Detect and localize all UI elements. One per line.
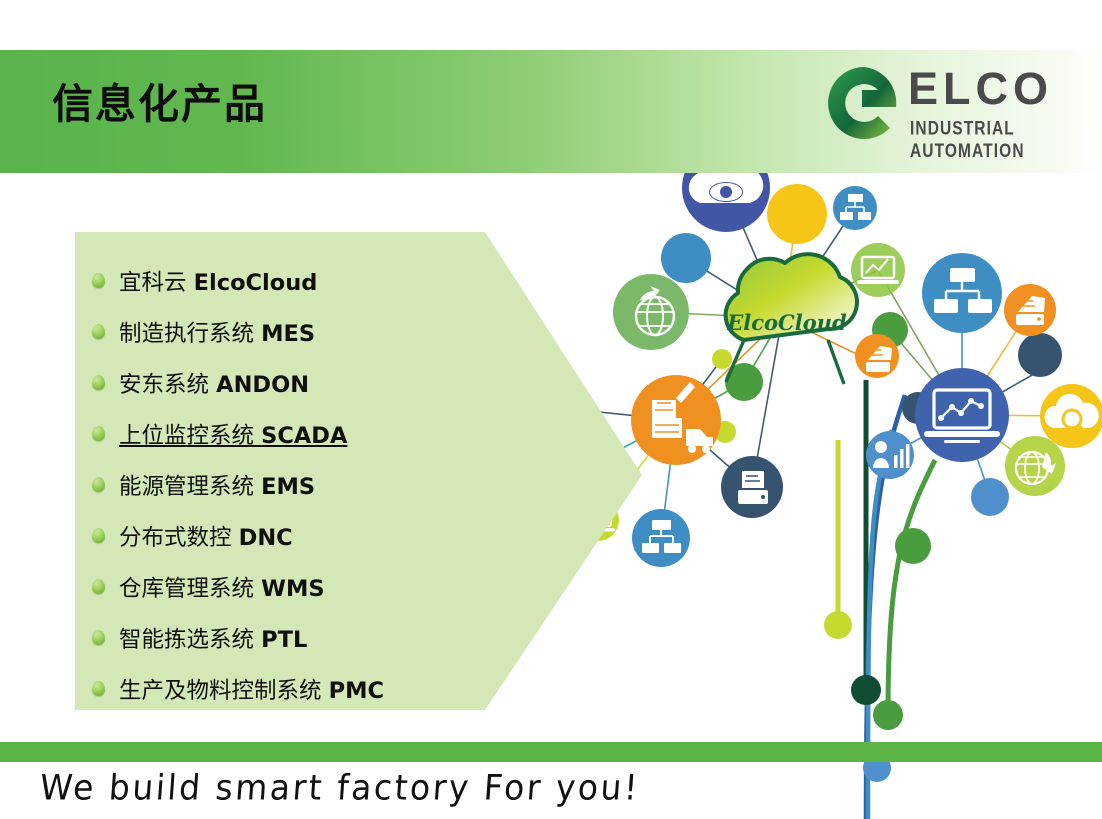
elcocloud-center: ElcoCloud — [726, 254, 857, 384]
product-list-item: 宜科云 ElcoCloud — [92, 255, 562, 306]
node-network-sitemap-bottom — [632, 509, 690, 567]
product-list-item: 生产及物料控制系统 PMC — [92, 663, 562, 714]
product-name-cn: 上位监控系统 — [119, 423, 261, 449]
product-list-item-label: 仓库管理系统 WMS — [119, 571, 325, 603]
product-list-item: 能源管理系统 EMS — [92, 459, 562, 510]
node-globe-refresh-left — [613, 274, 689, 350]
bullet-orb-icon — [92, 681, 105, 696]
product-list: 宜科云 ElcoCloud制造执行系统 MES安东系统 ANDON上位监控系统 … — [92, 255, 562, 714]
product-name-en: SCADA — [261, 423, 347, 449]
product-name-en: PTL — [261, 627, 307, 653]
logo-tagline: INDUSTRIAL AUTOMATION — [910, 118, 1082, 163]
node-scanner-right — [1004, 284, 1056, 336]
product-name-en: ANDON — [216, 372, 309, 398]
product-list-item: 仓库管理系统 WMS — [92, 561, 562, 612]
product-name-cn: 能源管理系统 — [119, 474, 261, 500]
product-name-cn: 安东系统 — [119, 372, 216, 398]
product-list-item: 智能拣选系统 PTL — [92, 612, 562, 663]
product-list-item-label: 智能拣选系统 PTL — [119, 622, 307, 654]
footer-tagline: We build smart factory For you! — [39, 767, 642, 808]
node-network-sitemap-right — [922, 253, 1002, 333]
bullet-orb-icon — [92, 324, 105, 339]
elco-logo: ELCO INDUSTRIAL AUTOMATION — [824, 60, 1082, 150]
bullet-orb-icon — [92, 528, 105, 543]
product-list-item-label: 安东系统 ANDON — [119, 367, 309, 399]
node-scanner-center — [855, 334, 899, 378]
product-name-en: EMS — [261, 474, 315, 500]
product-list-item-label: 制造执行系统 MES — [119, 316, 315, 348]
product-name-cn: 智能拣选系统 — [119, 627, 261, 653]
product-list-item: 制造执行系统 MES — [92, 306, 562, 357]
product-name-cn: 分布式数控 — [119, 525, 239, 551]
product-name-cn: 仓库管理系统 — [119, 576, 261, 602]
bullet-orb-icon — [92, 375, 105, 390]
product-name-en: MES — [261, 321, 315, 347]
product-list-item: 分布式数控 DNC — [92, 510, 562, 561]
node-network-sitemap-top — [833, 186, 877, 230]
elcocloud-label: ElcoCloud — [726, 310, 847, 335]
bullet-orb-icon — [92, 630, 105, 645]
footer-bar — [0, 742, 1102, 762]
node-printer-center — [721, 456, 783, 518]
bullet-orb-icon — [92, 579, 105, 594]
bullet-orb-icon — [92, 273, 105, 288]
product-list-item: 上位监控系统 SCADA — [92, 408, 562, 459]
product-name-en: PMC — [329, 678, 384, 704]
product-name-en: ElcoCloud — [194, 270, 318, 296]
product-name-en: WMS — [261, 576, 324, 602]
node-factory-truck-hub — [631, 375, 721, 465]
product-name-cn: 制造执行系统 — [119, 321, 261, 347]
product-list-item-label: 上位监控系统 SCADA — [119, 418, 347, 450]
product-list-item: 安东系统 ANDON — [92, 357, 562, 408]
product-list-item-label: 能源管理系统 EMS — [119, 469, 315, 501]
product-name-cn: 宜科云 — [119, 270, 194, 296]
slide-canvas: ElcoCloud 信息化产品 ELCO INDUSTRIAL AUTOMATI… — [0, 0, 1102, 819]
node-laptop-chart-top — [851, 243, 905, 297]
logo-wordmark: ELCO — [908, 66, 1053, 111]
node-globe-refresh-right — [1005, 436, 1065, 496]
product-list-item-label: 分布式数控 DNC — [119, 520, 293, 552]
product-list-item-label: 宜科云 ElcoCloud — [119, 265, 317, 297]
product-name-cn: 生产及物料控制系统 — [119, 678, 329, 704]
node-cloud-search-right — [1040, 384, 1102, 448]
page-title: 信息化产品 — [52, 70, 267, 130]
bullet-orb-icon — [92, 426, 105, 441]
node-people-chart-right — [866, 431, 914, 479]
elco-e-mark-icon — [824, 63, 904, 143]
product-list-item-label: 生产及物料控制系统 PMC — [119, 673, 384, 705]
bullet-orb-icon — [92, 477, 105, 492]
node-laptop-analytics-hub — [915, 368, 1009, 462]
product-name-en: DNC — [239, 525, 293, 551]
